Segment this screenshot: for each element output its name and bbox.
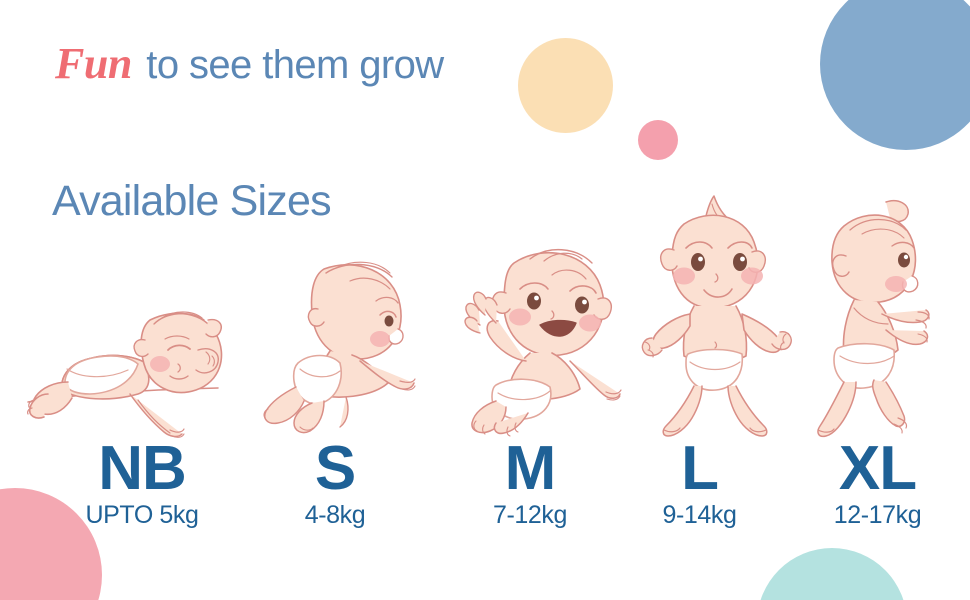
size-weight-xl: 12-17kg bbox=[785, 501, 970, 530]
size-code-xl: XL bbox=[785, 440, 970, 499]
headline-rest: to see them grow bbox=[136, 43, 444, 87]
standing-toddler bbox=[632, 190, 802, 442]
headline-accent-word: Fun bbox=[55, 39, 136, 88]
teal-circle-bottom-right bbox=[757, 548, 907, 600]
size-code-nb: NB bbox=[42, 440, 242, 499]
size-column-m: M 7-12kg bbox=[440, 440, 620, 530]
size-column-s: S 4-8kg bbox=[250, 440, 420, 530]
size-weight-l: 9-14kg bbox=[612, 501, 787, 530]
sleeping-newborn-baby bbox=[18, 290, 248, 442]
crawling-baby bbox=[252, 247, 442, 442]
blue-circle-top-right bbox=[820, 0, 970, 150]
sizing-chart-banner: Fun to see them grow Available Sizes bbox=[0, 0, 970, 600]
size-code-m: M bbox=[440, 440, 620, 499]
size-column-nb: NB UPTO 5kg bbox=[42, 440, 242, 530]
small-pink-circle bbox=[638, 120, 678, 160]
size-weight-nb: UPTO 5kg bbox=[42, 501, 242, 530]
size-column-xl: XL 12-17kg bbox=[785, 440, 970, 530]
page-title: Available Sizes bbox=[52, 180, 331, 223]
peach-circle bbox=[518, 38, 613, 133]
size-column-l: L 9-14kg bbox=[612, 440, 787, 530]
size-weight-s: 4-8kg bbox=[250, 501, 420, 530]
size-code-s: S bbox=[250, 440, 420, 499]
size-weight-m: 7-12kg bbox=[440, 501, 620, 530]
walking-toddler bbox=[800, 190, 970, 442]
sitting-baby-waving bbox=[452, 237, 642, 442]
size-code-l: L bbox=[612, 440, 787, 499]
headline: Fun to see them grow bbox=[55, 42, 444, 86]
